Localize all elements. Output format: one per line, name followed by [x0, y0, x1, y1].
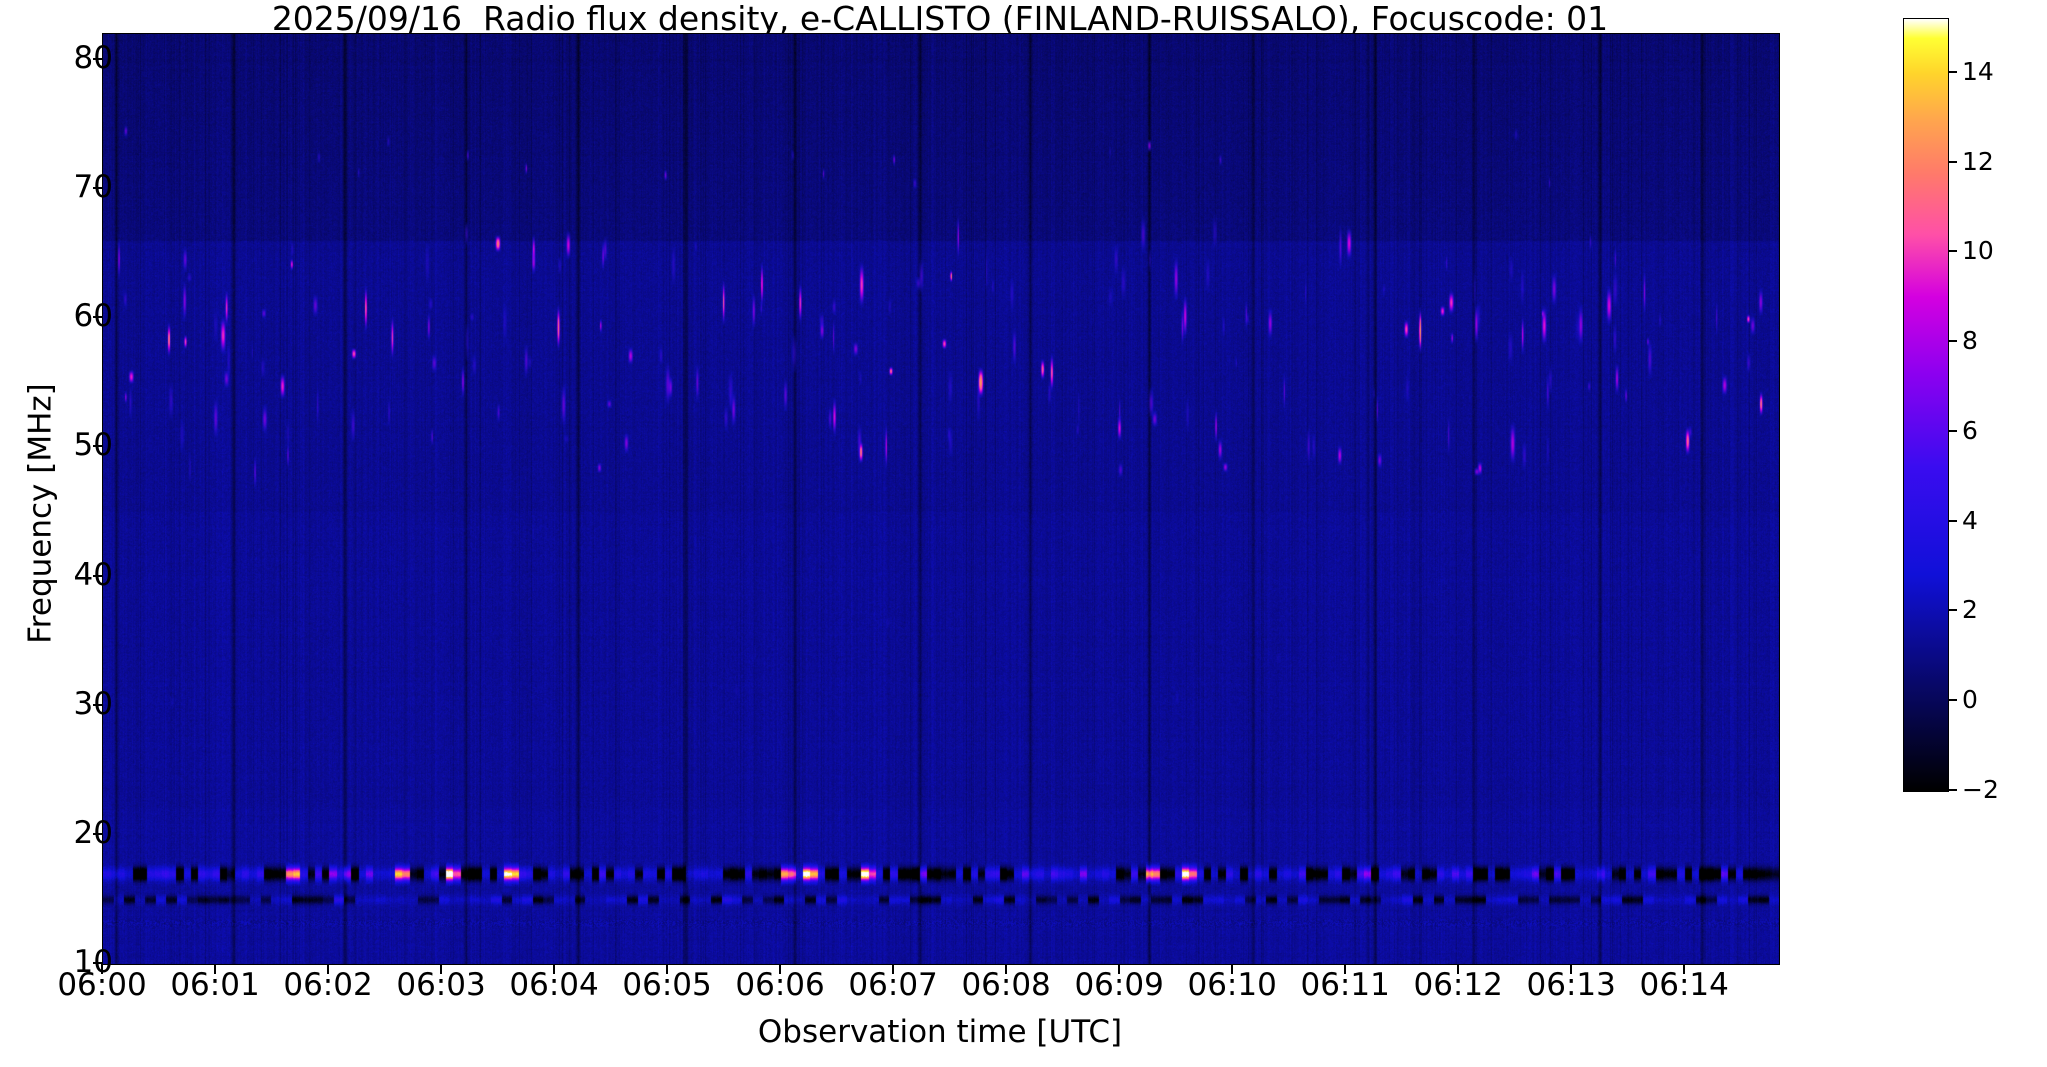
y-tick-mark [93, 704, 103, 706]
colorbar-tick-mark [1948, 430, 1957, 432]
colorbar-tick-mark [1948, 340, 1957, 342]
x-tick-mark [1005, 964, 1007, 974]
colorbar-tick-mark [1948, 71, 1957, 73]
x-tick-mark [1231, 964, 1233, 974]
colorbar-tick-mark [1948, 609, 1957, 611]
colorbar-tick-mark [1948, 250, 1957, 252]
y-tick-mark [93, 187, 103, 189]
colorbar-gradient [1904, 19, 1948, 791]
x-tick-mark [1118, 964, 1120, 974]
y-tick-mark [93, 58, 103, 60]
x-tick-mark [892, 964, 894, 974]
colorbar-tick-mark [1948, 789, 1957, 791]
colorbar-tick-label: 8 [1962, 328, 1978, 353]
y-tick-mark [93, 316, 103, 318]
x-tick-mark [1683, 964, 1685, 974]
colorbar[interactable] [1903, 18, 1949, 792]
y-axis-label: Frequency [MHz] [26, 334, 57, 694]
colorbar-tick-label: 6 [1962, 418, 1978, 443]
colorbar-tick-mark [1948, 699, 1957, 701]
y-tick-mark [93, 575, 103, 577]
y-tick-mark [93, 445, 103, 447]
x-tick-mark [214, 964, 216, 974]
page-title: 2025/09/16 Radio flux density, e-CALLIST… [0, 2, 1880, 36]
colorbar-tick-label: 14 [1962, 59, 1994, 84]
figure-canvas: 2025/09/16 Radio flux density, e-CALLIST… [0, 0, 2047, 1067]
x-tick-mark [1457, 964, 1459, 974]
x-tick-label: 06:14 [1604, 970, 1764, 1001]
spectrogram-image[interactable] [103, 34, 1779, 964]
x-tick-mark [666, 964, 668, 974]
colorbar-tick-label: 0 [1962, 687, 1978, 712]
x-tick-mark [327, 964, 329, 974]
x-axis-label: Observation time [UTC] [102, 1017, 1778, 1048]
colorbar-tick-label: 2 [1962, 597, 1978, 622]
x-tick-mark [1344, 964, 1346, 974]
colorbar-tick-label: 12 [1962, 149, 1994, 174]
colorbar-tick-label: 10 [1962, 238, 1994, 263]
colorbar-tick-label: −2 [1962, 777, 1999, 802]
colorbar-tick-label: 4 [1962, 508, 1978, 533]
x-tick-mark [440, 964, 442, 974]
x-tick-mark [1570, 964, 1572, 974]
colorbar-tick-mark [1948, 520, 1957, 522]
x-tick-mark [779, 964, 781, 974]
x-tick-mark [553, 964, 555, 974]
y-tick-mark [93, 833, 103, 835]
x-tick-mark [101, 964, 103, 974]
colorbar-tick-mark [1948, 161, 1957, 163]
spectrogram-axes[interactable] [102, 33, 1780, 965]
